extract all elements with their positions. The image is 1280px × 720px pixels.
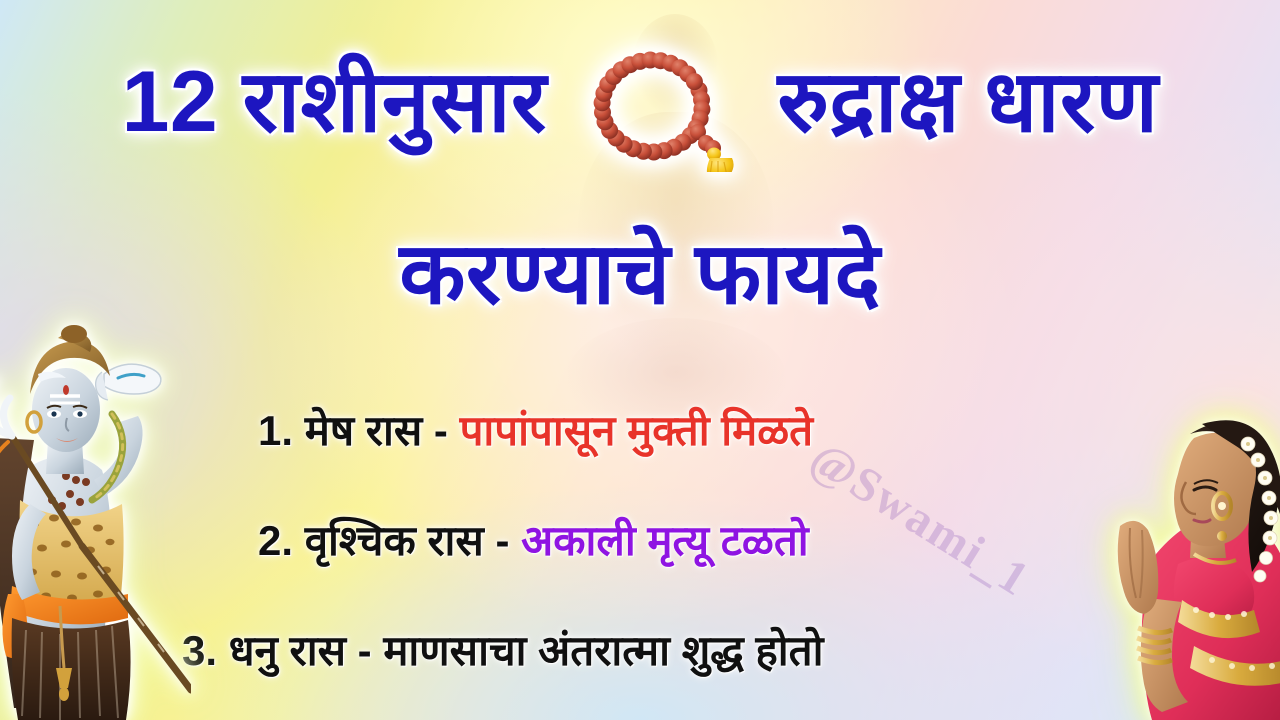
title-line-1-after: रुद्राक्ष धारण bbox=[777, 54, 1158, 150]
lord-shiva-image bbox=[0, 318, 191, 720]
list-item-value: अकाली मृत्यू टळतो bbox=[521, 517, 808, 564]
poster-canvas: @Swami_1 12 राशीनुसार रुद्राक्ष धारण करण… bbox=[0, 0, 1280, 720]
list-item: 1. मेष रास - पापांपासून मुक्ती मिळते bbox=[0, 392, 1280, 502]
list-item-dash: - bbox=[496, 517, 510, 564]
list-item: 2. वृश्चिक रास - अकाली मृत्यू टळतो bbox=[0, 502, 1280, 612]
title-line-2: करण्याचे फायदे bbox=[0, 220, 1280, 322]
praying-woman-image bbox=[1090, 378, 1280, 720]
list-item-dash: - bbox=[358, 627, 372, 674]
title-line-1-before: 12 राशीनुसार bbox=[122, 54, 547, 150]
list-item-label: मेष रास bbox=[305, 407, 423, 454]
list-item: 3. धनु रास - माणसाचा अंतरात्मा शुद्ध होत… bbox=[0, 612, 1280, 720]
list-item-value: माणसाचा अंतरात्मा शुद्ध होतो bbox=[383, 627, 823, 674]
benefits-list: 1. मेष रास - पापांपासून मुक्ती मिळते 2. … bbox=[0, 392, 1280, 720]
rudraksha-mala-icon bbox=[586, 48, 746, 172]
title-line-2-text: करण्याचे फायदे bbox=[399, 226, 880, 322]
list-item-label: धनु रास bbox=[229, 627, 346, 674]
list-item-number: 1. bbox=[258, 407, 293, 454]
list-item-label: वृश्चिक रास bbox=[305, 517, 484, 564]
list-item-dash: - bbox=[434, 407, 448, 454]
list-item-value: पापांपासून मुक्ती मिळते bbox=[460, 407, 814, 454]
list-item-number: 2. bbox=[258, 517, 293, 564]
